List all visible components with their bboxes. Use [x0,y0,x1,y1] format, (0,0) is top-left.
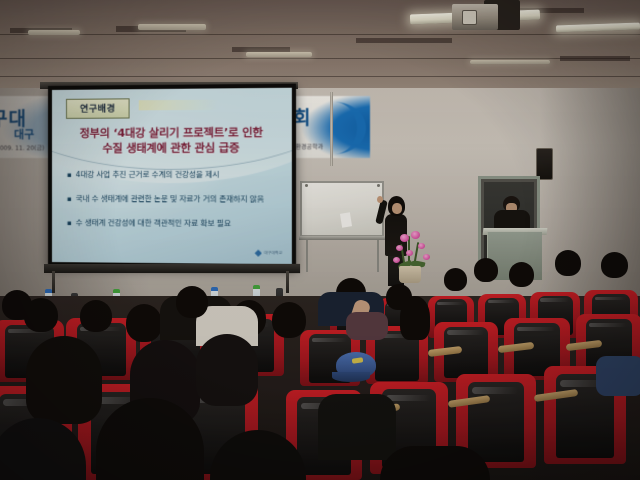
whiteboard-note [340,212,352,227]
bottle-cap [211,287,218,291]
presenter-hand [377,196,383,203]
slide-bullet-text: 4대강 사업 추진 근거로 수계의 건강성을 제시 [76,170,220,180]
slide-bullet-text: 수 생태계 건강성에 대한 객관적인 자료 확보 필요 [76,218,231,229]
whiteboard [300,181,384,237]
slide-title-line-2: 수질 생태계에 관한 관심 급증 [52,140,292,156]
slide-bullet-item: ▪ 국내 수 생태계에 관련한 논문 및 자료가 거의 존재하지 않음 [67,194,283,205]
orchid-bloom [393,257,400,263]
projector-lens-icon [462,10,477,25]
ceiling-seam [0,34,640,35]
bullet-marker-icon: ▪ [67,194,72,204]
plant-pot [399,266,421,283]
screen-stand-leg [52,271,55,293]
lecture-hall-photo: 구대 대구 2009. 11. 20(금) 발표회 발표회 대구대학교 환경공학… [0,0,640,480]
presenter-face [392,203,402,214]
orchid-bloom [400,234,409,242]
audience-member [272,302,306,338]
orchid-bloom [423,254,430,260]
banner-pole [330,92,333,166]
orchid-bloom [396,245,403,251]
slide-bullet-item: ▪ 수 생태계 건강성에 대한 객관적인 자료 확보 필요 [67,218,283,229]
ceiling-seam [0,76,640,77]
ceiling [0,0,640,92]
university-logo-icon [255,250,262,257]
ceiling-seam [0,58,640,59]
ceiling-light [246,52,312,57]
audience-member [176,286,208,318]
orchid-bloom [406,250,413,256]
audience-member [24,298,58,332]
orchid-bloom [411,231,420,239]
ceiling-tile [560,56,630,61]
bullet-marker-icon: ▪ [67,170,72,180]
audience-member [474,258,498,282]
slide-section-tag: 연구배경 [66,98,130,119]
audience-member [601,252,628,278]
slide-bullet-list: ▪ 4대강 사업 추진 근거로 수계의 건강성을 제시 ▪ 국내 수 생태계에 … [67,170,283,244]
audience-member [555,250,581,276]
cap-brim [332,372,370,382]
slide-bullet-text: 국내 수 생태계에 관련한 논문 및 자료가 거의 존재하지 않음 [76,194,264,205]
ceiling-tile [356,38,452,43]
slide-title: 정부의 ‘4대강 살리기 프로젝트’로 인한 수질 생태계에 관한 관심 급증 [52,125,292,156]
projection-screen: 연구배경 정부의 ‘4대강 살리기 프로젝트’로 인한 수질 생태계에 관한 관… [48,84,296,269]
ceiling-light [28,30,80,35]
bottle-cap [113,289,120,293]
audience-member [444,268,467,291]
presentation-slide: 연구배경 정부의 ‘4대강 살리기 프로젝트’로 인한 수질 생태계에 관한 관… [52,88,292,265]
audience-member [80,300,112,332]
audience-member [400,296,430,340]
bottle-cap [253,285,260,289]
slide-logo-text: 대구대학교 [264,251,282,256]
screen-bottom-bar [44,264,300,273]
slide-footer-logo: 대구대학교 [255,250,283,257]
screen-stand-leg [286,271,289,293]
orchid-bloom [418,243,425,249]
bottle-cap [45,289,52,293]
ceiling-light [138,24,206,30]
bullet-marker-icon: ▪ [67,218,72,228]
ceiling-light [470,60,550,64]
whiteboard-tray [299,236,385,240]
slide-title-line-1: 정부의 ‘4대강 살리기 프로젝트’로 인한 [52,125,292,141]
audience-member [126,304,162,342]
audience-member [509,262,534,287]
slide-bullet-item: ▪ 4대강 사업 추진 근거로 수계의 건강성을 제시 [67,170,283,180]
slide-tag-tail [139,100,219,111]
